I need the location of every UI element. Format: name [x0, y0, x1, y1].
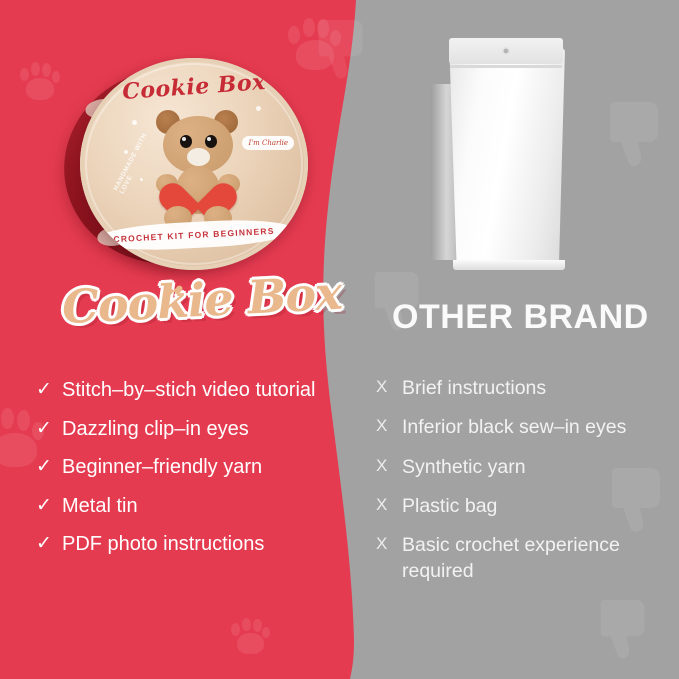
feature-label: Brief instructions	[402, 376, 546, 401]
other-brand-heading: OTHER BRAND	[392, 298, 649, 337]
sparkle-icon	[140, 178, 143, 181]
list-item: X Synthetic yarn	[376, 455, 646, 480]
list-item: X Brief instructions	[376, 376, 646, 401]
cross-icon: X	[376, 415, 402, 437]
list-item: ✓ Dazzling clip–in eyes	[36, 417, 324, 443]
pouch-hang-hole	[502, 47, 510, 55]
comparison-infographic: Cookie Box HANDMADE WITH LOVE I'm Charli…	[0, 0, 679, 679]
pouch-zipper	[450, 65, 562, 68]
cross-icon: X	[376, 455, 402, 477]
sparkle-icon	[124, 150, 128, 154]
bear-eye	[205, 135, 217, 148]
feature-label: Basic crochet experience required	[402, 533, 646, 584]
list-item: ✓ Stitch–by–stich video tutorial	[36, 378, 324, 404]
pouch-front-panel	[447, 48, 565, 260]
feature-label: Metal tin	[62, 494, 138, 520]
tin-lid: Cookie Box HANDMADE WITH LOVE I'm Charli…	[80, 58, 308, 270]
cookie-box-logo: Cookie Box	[61, 272, 303, 330]
check-icon: ✓	[36, 532, 62, 556]
feature-label: Synthetic yarn	[402, 455, 526, 480]
check-icon: ✓	[36, 417, 62, 441]
feature-label: Stitch–by–stich video tutorial	[62, 378, 315, 404]
check-icon: ✓	[36, 378, 62, 402]
sparkle-icon	[256, 106, 261, 111]
feature-label: Inferior black sew–in eyes	[402, 415, 626, 440]
list-item: X Basic crochet experience required	[376, 533, 646, 584]
cross-icon: X	[376, 494, 402, 516]
crochet-bear-figure	[152, 108, 244, 238]
list-item: X Plastic bag	[376, 494, 646, 519]
feature-label: Dazzling clip–in eyes	[62, 417, 249, 443]
cross-icon: X	[376, 533, 402, 555]
red-heart-icon	[174, 166, 222, 210]
list-item: ✓ Beginner–friendly yarn	[36, 455, 324, 481]
pouch-base	[453, 260, 565, 270]
bear-muzzle	[187, 148, 210, 166]
cookie-box-feature-list: ✓ Stitch–by–stich video tutorial ✓ Dazzl…	[36, 378, 324, 571]
logo-heart-icon	[168, 282, 180, 293]
feature-label: PDF photo instructions	[62, 532, 264, 558]
other-brand-feature-list: X Brief instructions X Inferior black se…	[376, 376, 646, 598]
feature-label: Plastic bag	[402, 494, 497, 519]
cookie-box-tin-image: Cookie Box HANDMADE WITH LOVE I'm Charli…	[58, 40, 306, 275]
list-item: X Inferior black sew–in eyes	[376, 415, 646, 440]
sparkle-icon	[132, 120, 137, 125]
plastic-pouch-image	[447, 38, 567, 268]
speech-bubble: I'm Charlie	[242, 136, 294, 150]
feature-label: Beginner–friendly yarn	[62, 455, 262, 481]
list-item: ✓ PDF photo instructions	[36, 532, 324, 558]
check-icon: ✓	[36, 455, 62, 479]
cross-icon: X	[376, 376, 402, 398]
bear-eye	[180, 135, 192, 148]
check-icon: ✓	[36, 494, 62, 518]
list-item: ✓ Metal tin	[36, 494, 324, 520]
